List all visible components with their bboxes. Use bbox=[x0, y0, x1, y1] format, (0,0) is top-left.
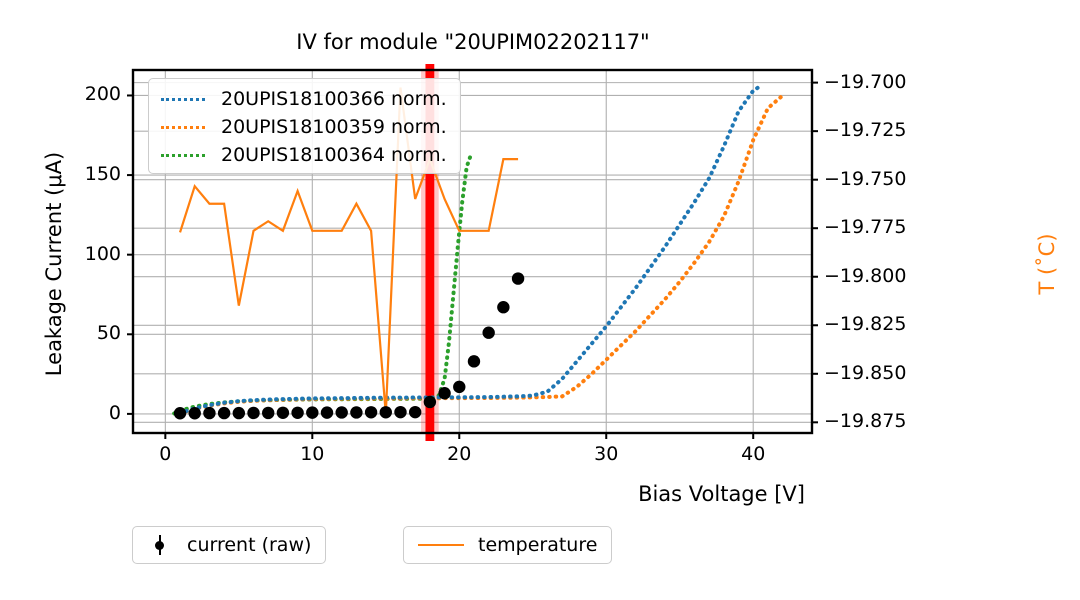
data-point-current-raw bbox=[394, 406, 406, 418]
data-point-current-raw bbox=[380, 406, 392, 418]
legend-swatch-orange-line bbox=[418, 544, 464, 546]
y-tick-label-right: −19.725 bbox=[824, 119, 944, 141]
data-point-current-raw bbox=[438, 387, 450, 399]
y-tick-label-left: 150 bbox=[43, 163, 121, 185]
data-point-current-raw bbox=[233, 407, 245, 419]
errorbar-marker-icon bbox=[147, 535, 173, 555]
data-point-current-raw bbox=[189, 407, 201, 419]
y-tick-label-left: 0 bbox=[43, 402, 121, 424]
data-point-current-raw bbox=[321, 406, 333, 418]
data-point-current-raw bbox=[482, 326, 494, 338]
data-point-current-raw bbox=[203, 407, 215, 419]
y-tick-label-left: 100 bbox=[43, 243, 121, 265]
y-tick-label-right: −19.700 bbox=[824, 71, 944, 93]
x-tick-label: 0 bbox=[135, 443, 195, 465]
data-point-current-raw bbox=[247, 407, 259, 419]
data-point-current-raw bbox=[468, 355, 480, 367]
y-tick-label-right: −19.825 bbox=[824, 313, 944, 335]
legend-entry-20UPIS18100359: 20UPIS18100359 norm. bbox=[157, 113, 452, 141]
data-point-current-raw bbox=[453, 381, 465, 393]
legend-swatch-green-dotted bbox=[161, 154, 205, 157]
legend-swatch-orange-dotted bbox=[161, 126, 205, 129]
y-tick-label-left: 50 bbox=[43, 322, 121, 344]
y-tick-label-right: −19.875 bbox=[824, 410, 944, 432]
data-point-current-raw bbox=[424, 396, 436, 408]
legend-entry-20UPIS18100366: 20UPIS18100366 norm. bbox=[157, 85, 452, 113]
data-point-current-raw bbox=[306, 406, 318, 418]
y-tick-label-right: −19.775 bbox=[824, 216, 944, 238]
iv-chart-figure: IV for module "20UPIM02202117" Leakage C… bbox=[0, 0, 1080, 600]
legend-swatch-blue-dotted bbox=[161, 98, 205, 101]
data-point-current-raw bbox=[291, 407, 303, 419]
y-tick-label-left: 200 bbox=[43, 83, 121, 105]
data-point-current-raw bbox=[497, 301, 509, 313]
data-point-current-raw bbox=[409, 406, 421, 418]
legend-current-label: current (raw) bbox=[187, 534, 311, 556]
x-tick-label: 30 bbox=[576, 443, 636, 465]
data-point-current-raw bbox=[335, 406, 347, 418]
data-point-current-raw bbox=[262, 407, 274, 419]
x-tick-label: 10 bbox=[282, 443, 342, 465]
x-tick-label: 20 bbox=[429, 443, 489, 465]
data-point-current-raw bbox=[277, 407, 289, 419]
data-point-current-raw bbox=[365, 406, 377, 418]
legend-label-0: 20UPIS18100366 norm. bbox=[221, 88, 447, 110]
y-tick-label-right: −19.800 bbox=[824, 265, 944, 287]
legend-current-raw: current (raw) bbox=[132, 526, 326, 564]
data-point-current-raw bbox=[350, 406, 362, 418]
data-point-current-raw bbox=[174, 407, 186, 419]
x-tick-label: 40 bbox=[723, 443, 783, 465]
legend-entry-20UPIS18100364: 20UPIS18100364 norm. bbox=[157, 141, 452, 169]
series-legend: 20UPIS18100366 norm. 20UPIS18100359 norm… bbox=[148, 78, 461, 174]
legend-label-1: 20UPIS18100359 norm. bbox=[221, 116, 447, 138]
data-point-current-raw bbox=[218, 407, 230, 419]
legend-temperature: temperature bbox=[403, 526, 612, 564]
data-point-current-raw bbox=[512, 272, 524, 284]
legend-temperature-label: temperature bbox=[478, 534, 597, 556]
y-tick-label-right: −19.750 bbox=[824, 168, 944, 190]
legend-label-2: 20UPIS18100364 norm. bbox=[221, 144, 447, 166]
y-tick-label-right: −19.850 bbox=[824, 362, 944, 384]
